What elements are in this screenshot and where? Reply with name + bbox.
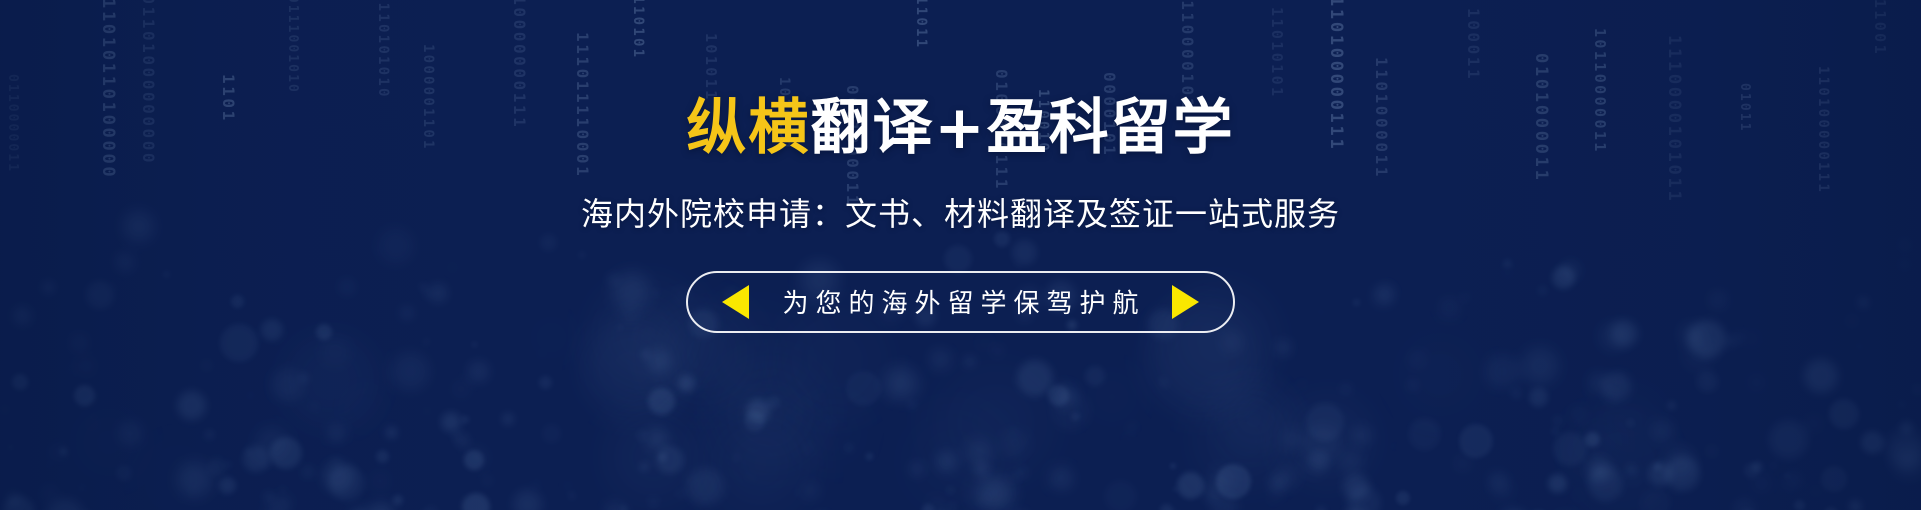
cta-button[interactable]: 为您的海外留学保驾护航 <box>686 271 1234 333</box>
promo-banner: 0110000011110101101000000101101000000000… <box>0 0 1921 510</box>
banner-title-plain: 翻译+盈科留学 <box>810 93 1234 163</box>
banner-title-accent: 纵横 <box>686 93 810 163</box>
triangle-left-icon <box>722 285 749 319</box>
banner-title: 纵横翻译+盈科留学 <box>686 96 1234 161</box>
banner-content: 纵横翻译+盈科留学 海内外院校申请：文书、材料翻译及签证一站式服务 为您的海外留… <box>0 0 1921 510</box>
cta-button-label: 为您的海外留学保驾护航 <box>775 283 1145 320</box>
triangle-right-icon <box>1172 285 1199 319</box>
banner-subtitle: 海内外院校申请：文书、材料翻译及签证一站式服务 <box>581 189 1340 235</box>
